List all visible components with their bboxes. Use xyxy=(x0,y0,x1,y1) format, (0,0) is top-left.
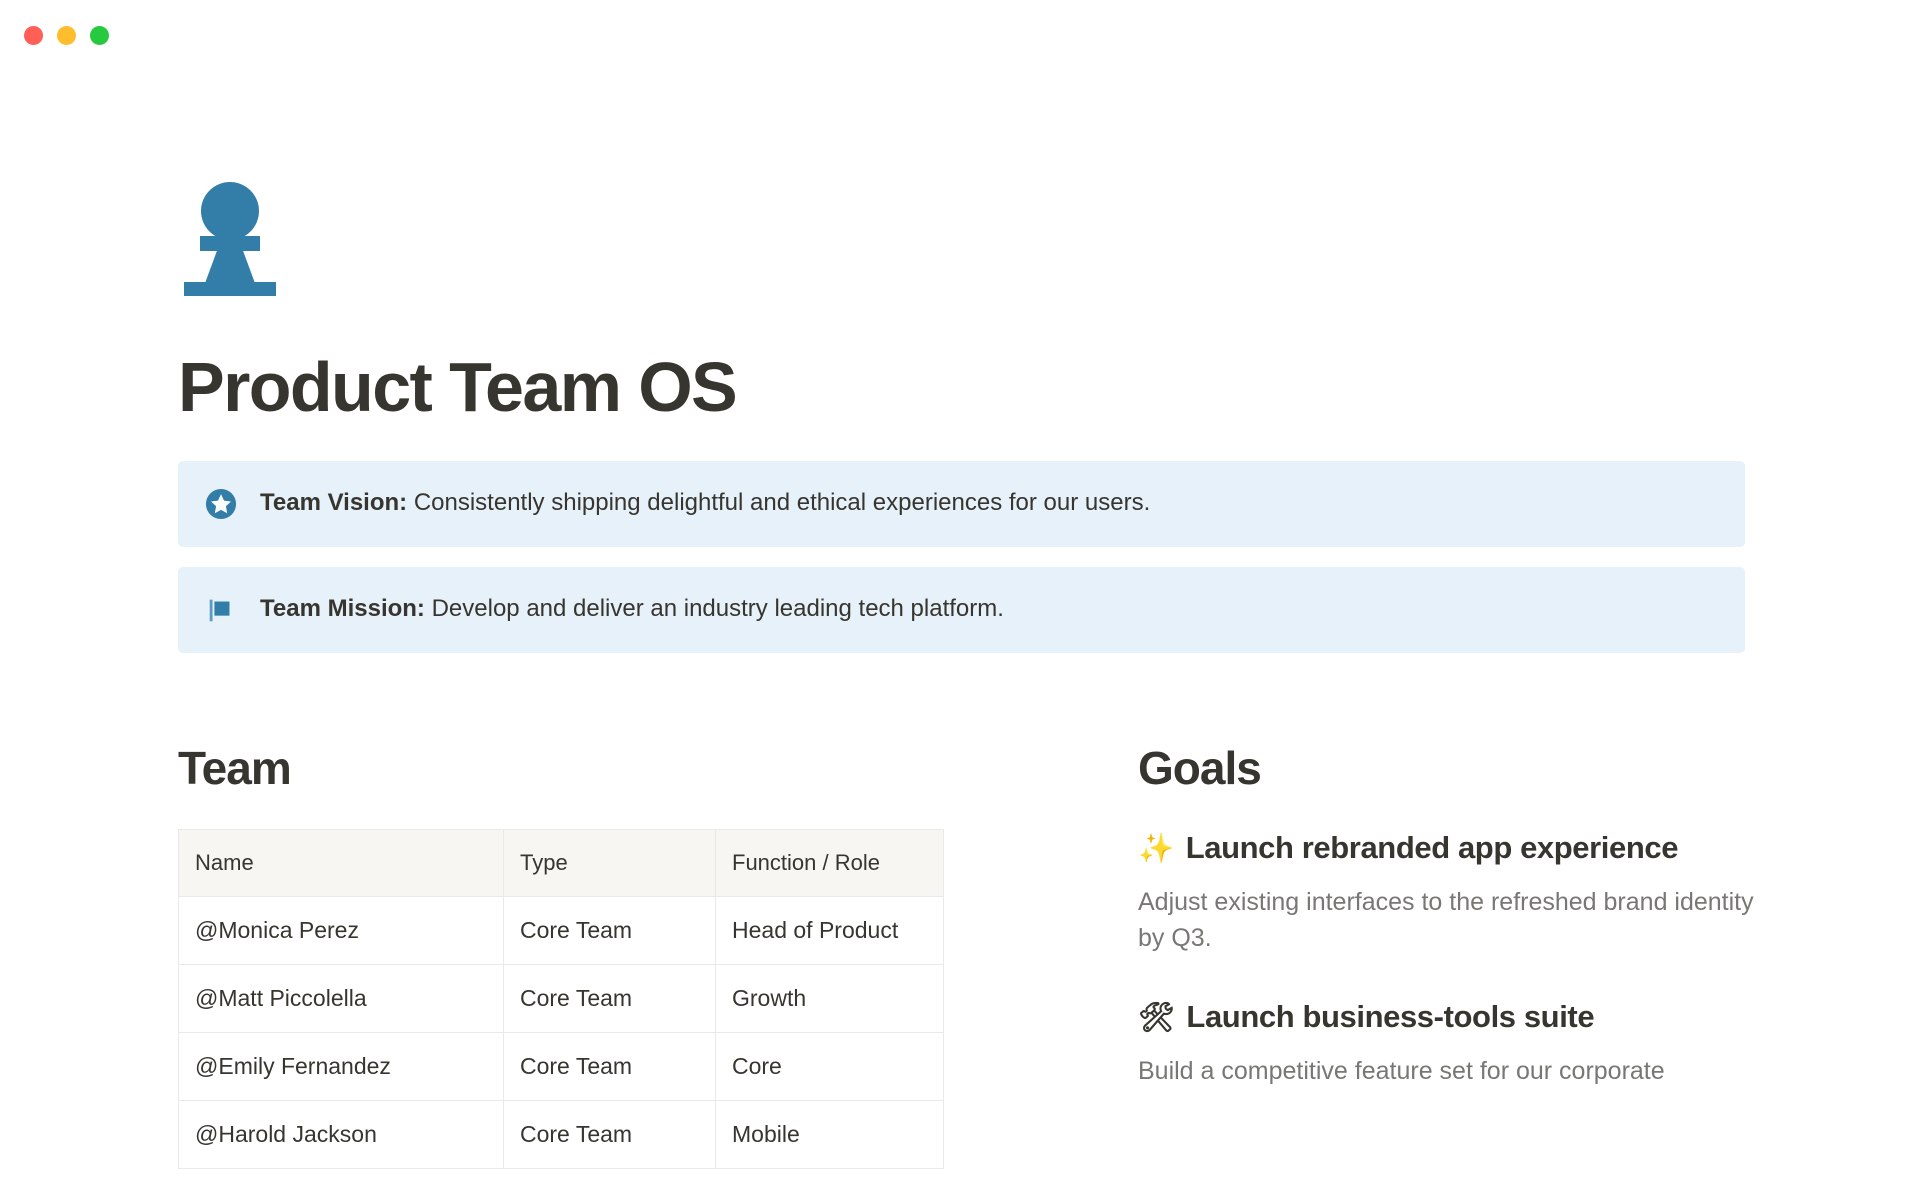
close-window-button[interactable] xyxy=(24,26,43,45)
callout-list: Team Vision: Consistently shipping delig… xyxy=(178,461,1745,653)
goal-item[interactable]: ✨ Launch rebranded app experience Adjust… xyxy=(1138,829,1758,956)
cell-name[interactable]: @Emily Fernandez xyxy=(179,1033,504,1101)
team-column: Team Name Type Function / Role xyxy=(178,743,1108,1170)
chess-pawn-icon[interactable] xyxy=(178,178,282,296)
column-header-name[interactable]: Name xyxy=(179,830,504,897)
table-row[interactable]: @Emily Fernandez Core Team Core xyxy=(179,1033,944,1101)
cell-name[interactable]: @Monica Perez xyxy=(179,897,504,965)
table-header-row: Name Type Function / Role xyxy=(179,830,944,897)
goal-title-text: Launch rebranded app experience xyxy=(1186,829,1678,868)
cell-role[interactable]: Head of Product xyxy=(716,897,944,965)
page-title: Product Team OS xyxy=(178,296,1860,425)
cell-role[interactable]: Mobile xyxy=(716,1101,944,1169)
two-column-section: Team Name Type Function / Role xyxy=(178,743,1758,1170)
sparkles-icon: ✨ xyxy=(1138,835,1174,864)
table-row[interactable]: @Harold Jackson Core Team Mobile xyxy=(179,1101,944,1169)
goals-column: Goals ✨ Launch rebranded app experience … xyxy=(1108,743,1758,1170)
goal-description: Build a competitive feature set for our … xyxy=(1138,1053,1758,1089)
callout-team-mission-label: Team Mission: xyxy=(260,595,425,622)
callout-team-vision[interactable]: Team Vision: Consistently shipping delig… xyxy=(178,461,1745,547)
column-header-role[interactable]: Function / Role xyxy=(716,830,944,897)
callout-team-vision-text: Team Vision: Consistently shipping delig… xyxy=(260,486,1150,521)
cell-type[interactable]: Core Team xyxy=(504,965,716,1033)
goal-title: 🛠 Launch business-tools suite xyxy=(1138,998,1758,1037)
callout-team-mission-text: Team Mission: Develop and deliver an ind… xyxy=(260,592,1004,627)
star-circle-icon xyxy=(204,487,238,521)
minimize-window-button[interactable] xyxy=(57,26,76,45)
team-table[interactable]: Name Type Function / Role @Monica Perez … xyxy=(178,829,944,1169)
goal-title: ✨ Launch rebranded app experience xyxy=(1138,829,1758,868)
cell-name[interactable]: @Matt Piccolella xyxy=(179,965,504,1033)
column-header-type[interactable]: Type xyxy=(504,830,716,897)
cell-role[interactable]: Core xyxy=(716,1033,944,1101)
goal-item[interactable]: 🛠 Launch business-tools suite Build a co… xyxy=(1138,998,1758,1089)
hammer-and-wrench-icon: 🛠 xyxy=(1138,1004,1174,1033)
traffic-light-group xyxy=(24,26,109,45)
goal-description: Adjust existing interfaces to the refres… xyxy=(1138,884,1758,957)
cell-type[interactable]: Core Team xyxy=(504,897,716,965)
team-heading: Team xyxy=(178,743,1108,794)
app-window: Product Team OS Team Vision: Consistentl… xyxy=(0,0,1920,1200)
flag-icon xyxy=(204,593,238,627)
callout-team-vision-body: Consistently shipping delightful and eth… xyxy=(407,489,1150,516)
callout-team-mission[interactable]: Team Mission: Develop and deliver an ind… xyxy=(178,567,1745,653)
table-row[interactable]: @Monica Perez Core Team Head of Product xyxy=(179,897,944,965)
page-scroll-area[interactable]: Product Team OS Team Vision: Consistentl… xyxy=(0,62,1920,1200)
title-bar xyxy=(0,0,1920,62)
cell-type[interactable]: Core Team xyxy=(504,1033,716,1101)
callout-team-vision-label: Team Vision: xyxy=(260,489,407,516)
maximize-window-button[interactable] xyxy=(90,26,109,45)
goals-heading: Goals xyxy=(1138,743,1758,794)
cell-type[interactable]: Core Team xyxy=(504,1101,716,1169)
table-row[interactable]: @Matt Piccolella Core Team Growth xyxy=(179,965,944,1033)
cell-name[interactable]: @Harold Jackson xyxy=(179,1101,504,1169)
goal-title-text: Launch business-tools suite xyxy=(1186,998,1594,1037)
cell-role[interactable]: Growth xyxy=(716,965,944,1033)
callout-team-mission-body: Develop and deliver an industry leading … xyxy=(425,595,1004,622)
